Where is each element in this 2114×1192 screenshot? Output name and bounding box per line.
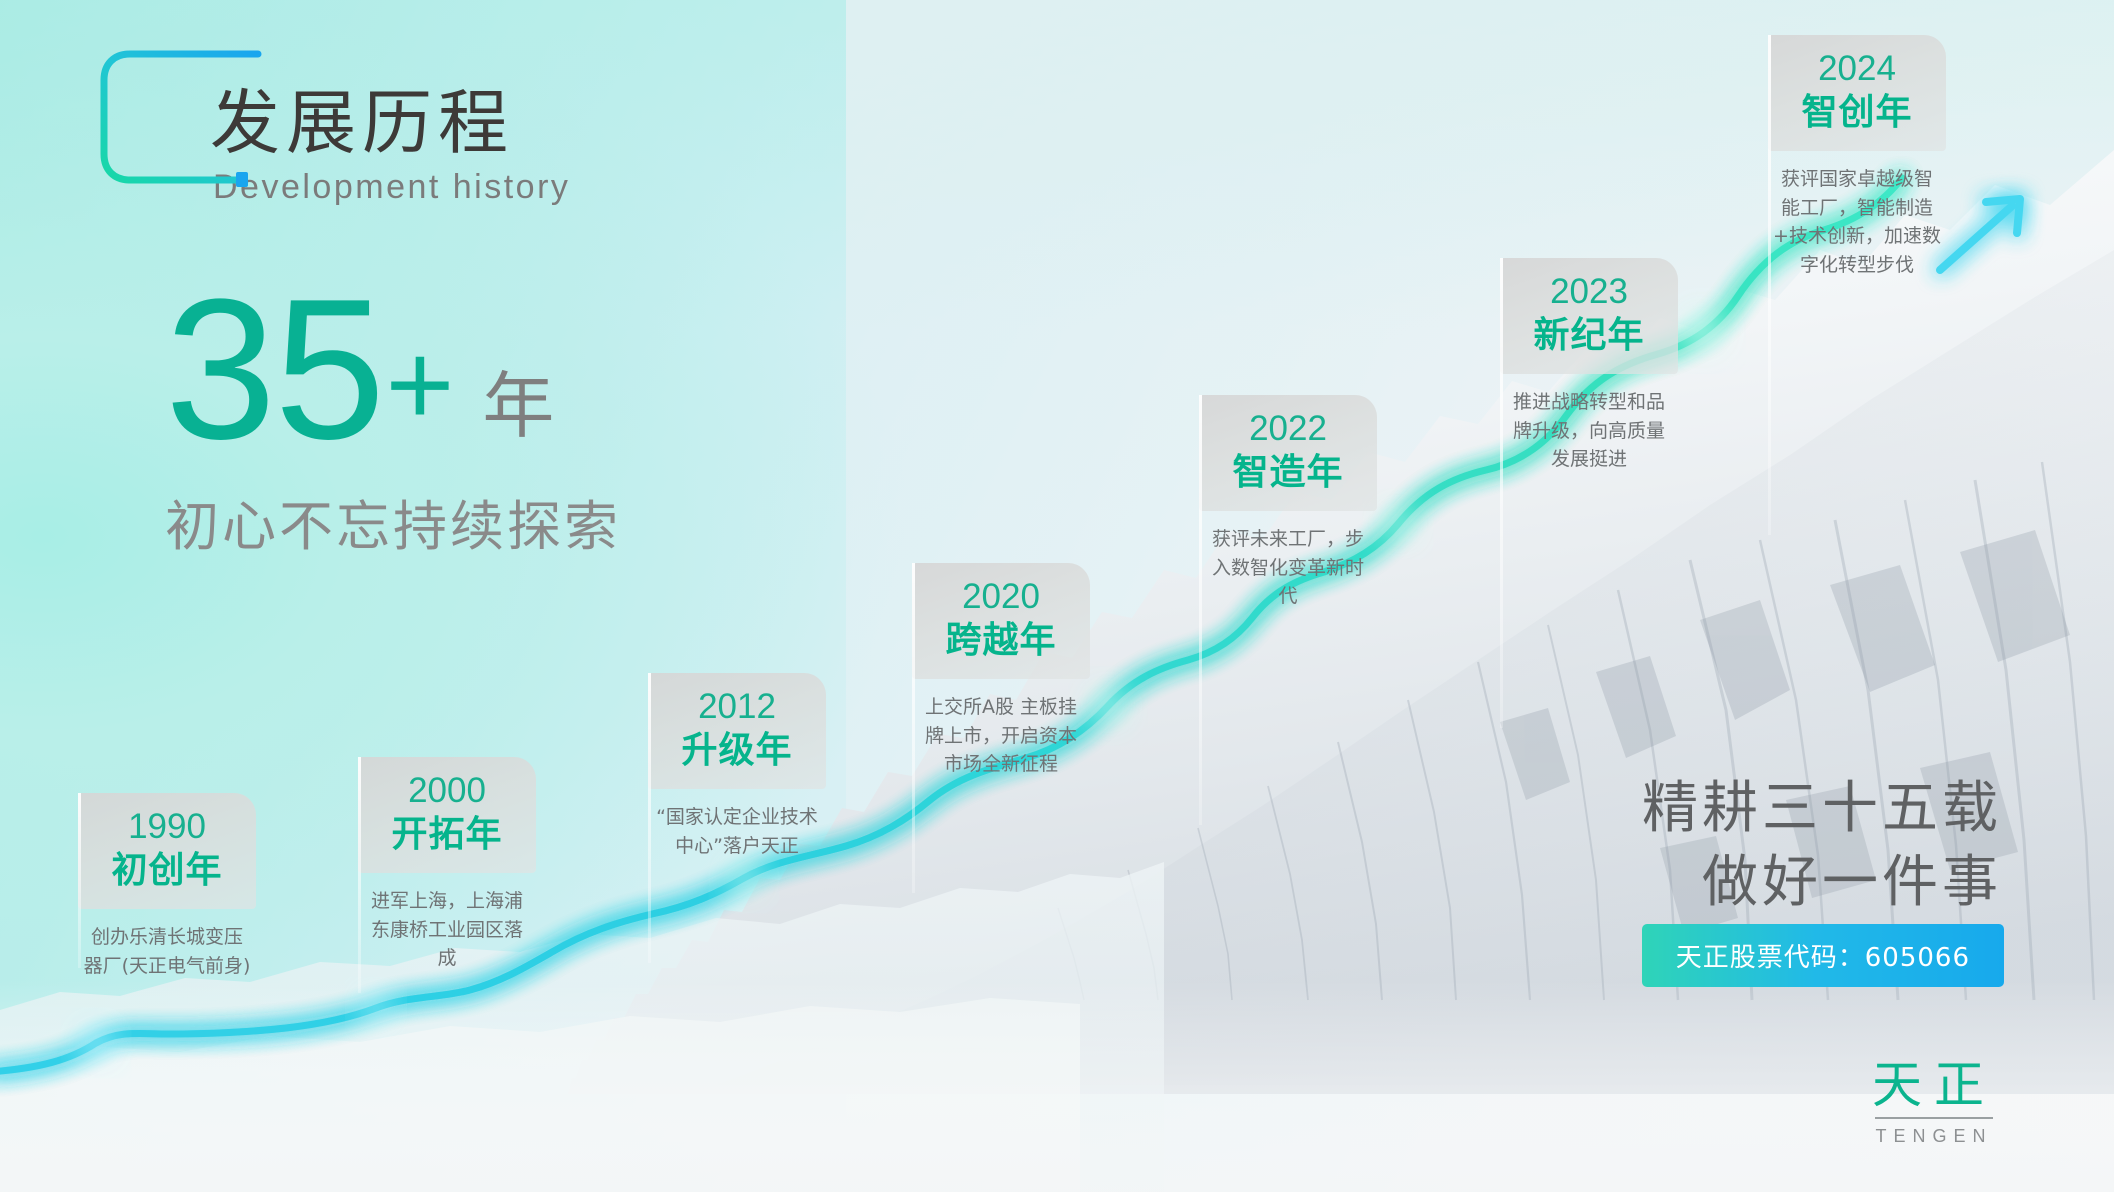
slogan-line-1: 精耕三十五载 bbox=[1642, 772, 2002, 846]
card-stem bbox=[912, 563, 915, 893]
card-year: 2012 bbox=[656, 689, 818, 726]
card-name: 智造年 bbox=[1207, 452, 1369, 493]
slogan-line-2: 做好一件事 bbox=[1642, 846, 2002, 920]
card-description: 进军上海，上海浦东康桥工业园区落成 bbox=[358, 887, 536, 973]
card-chip: 1990 初创年 bbox=[78, 793, 256, 909]
rounded-bracket-icon bbox=[90, 36, 265, 196]
stock-code-badge: 天正股票代码：605066 bbox=[1642, 924, 2004, 987]
card-description: “国家认定企业技术中心”落户天正 bbox=[648, 803, 826, 860]
brand-slogan: 精耕三十五载 做好一件事 bbox=[1642, 772, 2002, 920]
card-chip: 2022 智造年 bbox=[1199, 395, 1377, 511]
card-stem bbox=[358, 757, 361, 993]
card-year: 2024 bbox=[1776, 51, 1938, 88]
card-chip: 2000 开拓年 bbox=[358, 757, 536, 873]
card-stem bbox=[1500, 258, 1503, 728]
card-name: 跨越年 bbox=[920, 620, 1082, 661]
card-description: 推进战略转型和品牌升级，向高质量发展挺进 bbox=[1500, 388, 1678, 474]
card-name: 智创年 bbox=[1776, 92, 1938, 133]
company-logo: 天正 TENGEN bbox=[1872, 1060, 1996, 1147]
timeline-card-1990[interactable]: 1990 初创年 创办乐清长城变压器厂(天正电气前身) bbox=[78, 793, 256, 980]
years-number: 35 bbox=[165, 282, 383, 458]
card-chip: 2020 跨越年 bbox=[912, 563, 1090, 679]
timeline-card-2020[interactable]: 2020 跨越年 上交所A股 主板挂牌上市，开启资本市场全新征程 bbox=[912, 563, 1090, 779]
years-plus-sign: + bbox=[385, 326, 454, 444]
card-name: 升级年 bbox=[656, 730, 818, 771]
page-header: 发展历程 Development history bbox=[125, 30, 570, 207]
card-year: 2020 bbox=[920, 579, 1082, 616]
timeline-card-2012[interactable]: 2012 升级年 “国家认定企业技术中心”落户天正 bbox=[648, 673, 826, 860]
logo-english-name: TENGEN bbox=[1875, 1117, 1992, 1147]
card-year: 2022 bbox=[1207, 411, 1369, 448]
summit-arrow-icon bbox=[1940, 199, 2020, 270]
logo-chinese-name: 天正 bbox=[1872, 1060, 1996, 1110]
years-unit: 年 bbox=[482, 370, 554, 442]
card-description: 上交所A股 主板挂牌上市，开启资本市场全新征程 bbox=[912, 693, 1090, 779]
card-stem bbox=[78, 793, 81, 968]
years-subtitle: 初心不忘持续探索 bbox=[165, 482, 621, 561]
card-year: 2000 bbox=[366, 773, 528, 810]
card-stem bbox=[648, 673, 651, 963]
card-description: 获评国家卓越级智能工厂，智能制造+技术创新，加速数字化转型步伐 bbox=[1768, 165, 1946, 279]
card-chip: 2012 升级年 bbox=[648, 673, 826, 789]
card-name: 新纪年 bbox=[1508, 315, 1670, 356]
card-name: 开拓年 bbox=[366, 814, 528, 855]
card-stem bbox=[1199, 395, 1202, 825]
timeline-card-2023[interactable]: 2023 新纪年 推进战略转型和品牌升级，向高质量发展挺进 bbox=[1500, 258, 1678, 474]
timeline-card-2024[interactable]: 2024 智创年 获评国家卓越级智能工厂，智能制造+技术创新，加速数字化转型步伐 bbox=[1768, 35, 1946, 279]
card-chip: 2024 智创年 bbox=[1768, 35, 1946, 151]
card-year: 1990 bbox=[86, 809, 248, 846]
card-description: 创办乐清长城变压器厂(天正电气前身) bbox=[78, 923, 256, 980]
timeline-card-2022[interactable]: 2022 智造年 获评未来工厂，步入数智化变革新时代 bbox=[1199, 395, 1377, 611]
card-chip: 2023 新纪年 bbox=[1500, 258, 1678, 374]
card-year: 2023 bbox=[1508, 274, 1670, 311]
card-description: 获评未来工厂，步入数智化变革新时代 bbox=[1199, 525, 1377, 611]
card-stem bbox=[1768, 35, 1771, 535]
years-stat-block: 35 + 年 初心不忘持续探索 bbox=[165, 282, 621, 561]
infographic-canvas: 发展历程 Development history 35 + 年 初心不忘持续探索… bbox=[0, 0, 2114, 1192]
card-name: 初创年 bbox=[86, 850, 248, 891]
timeline-card-2000[interactable]: 2000 开拓年 进军上海，上海浦东康桥工业园区落成 bbox=[358, 757, 536, 973]
